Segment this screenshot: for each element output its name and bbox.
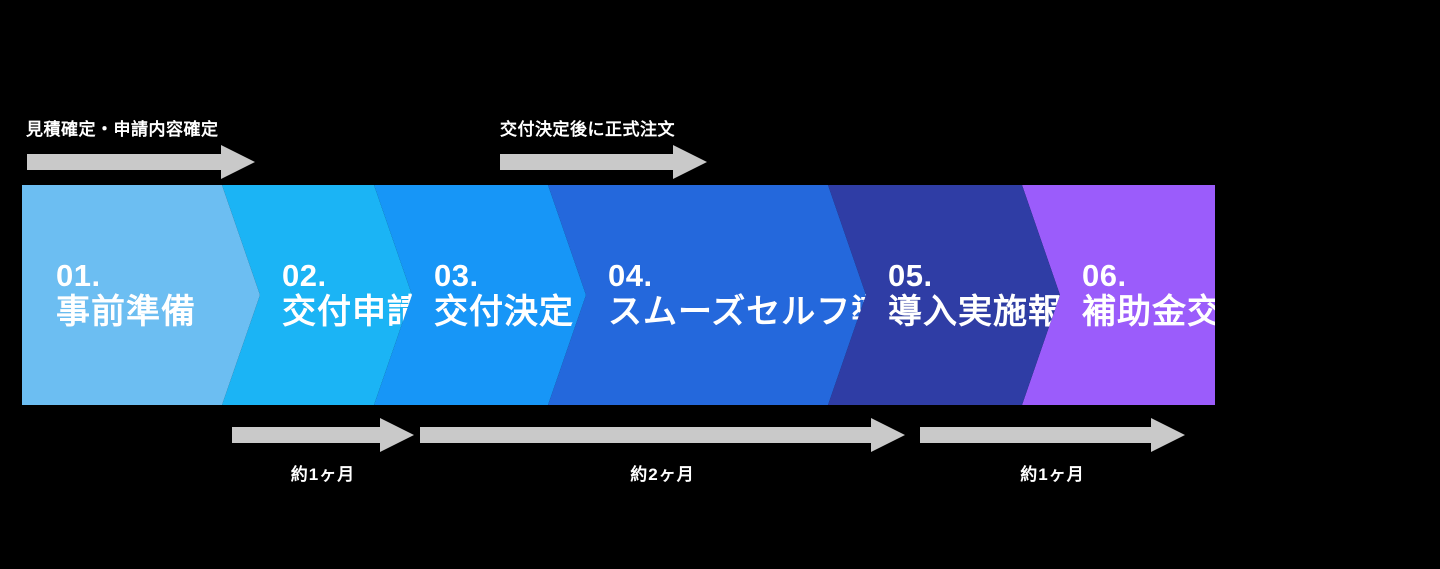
process-step-label: 事前準備 (56, 293, 260, 331)
process-step-label: 交付申請 (282, 293, 412, 331)
process-chevron-band: 01.事前準備02.交付申請03.交付決定04.スムーズセルフ導入05.導入実施… (22, 185, 1405, 405)
process-step-number: 05. (888, 259, 1060, 294)
duration-arrow-icon (420, 418, 905, 452)
duration-label: 約2ヶ月 (420, 460, 905, 485)
process-step-label: スムーズセルフ導入 (608, 293, 866, 331)
process-step-number: 04. (608, 259, 866, 294)
process-step-text: 02.交付申請 (282, 259, 412, 332)
process-step-04[interactable]: 04.スムーズセルフ導入 (548, 185, 866, 405)
duration-label: 約1ヶ月 (920, 460, 1185, 485)
process-step-label: 交付決定 (434, 293, 586, 331)
duration-arrow-icon (232, 418, 414, 452)
process-step-text: 05.導入実施報告 (888, 259, 1060, 332)
arrow-head-icon (871, 418, 905, 452)
top-annotation-arrow-icon (500, 145, 707, 179)
process-step-number: 01. (56, 259, 260, 294)
top-annotation-arrow-icon (27, 145, 255, 179)
process-step-01[interactable]: 01.事前準備 (22, 185, 260, 405)
arrow-shaft (232, 427, 380, 443)
flow-diagram-canvas: 見積確定・申請内容確定交付決定後に正式注文 01.事前準備02.交付申請03.交… (0, 0, 1440, 569)
process-step-number: 02. (282, 259, 412, 294)
process-step-label: 導入実施報告 (888, 293, 1060, 331)
process-step-number: 03. (434, 259, 586, 294)
duration-label: 約1ヶ月 (232, 460, 414, 485)
process-step-text: 03.交付決定 (434, 259, 586, 332)
top-annotation-label: 交付決定後に正式注文 (500, 115, 675, 140)
arrow-shaft (27, 154, 221, 170)
process-step-number: 06. (1082, 259, 1215, 294)
process-step-text: 04.スムーズセルフ導入 (608, 259, 866, 332)
arrow-shaft (500, 154, 673, 170)
top-annotation-label: 見積確定・申請内容確定 (26, 115, 219, 140)
arrow-shaft (920, 427, 1151, 443)
process-step-text: 01.事前準備 (56, 259, 260, 332)
arrow-head-icon (380, 418, 414, 452)
duration-arrow-icon (920, 418, 1185, 452)
arrow-head-icon (221, 145, 255, 179)
arrow-head-icon (673, 145, 707, 179)
arrow-shaft (420, 427, 871, 443)
arrow-head-icon (1151, 418, 1185, 452)
process-step-text: 06.補助金交付 (1082, 259, 1215, 332)
process-step-label: 補助金交付 (1082, 293, 1215, 331)
